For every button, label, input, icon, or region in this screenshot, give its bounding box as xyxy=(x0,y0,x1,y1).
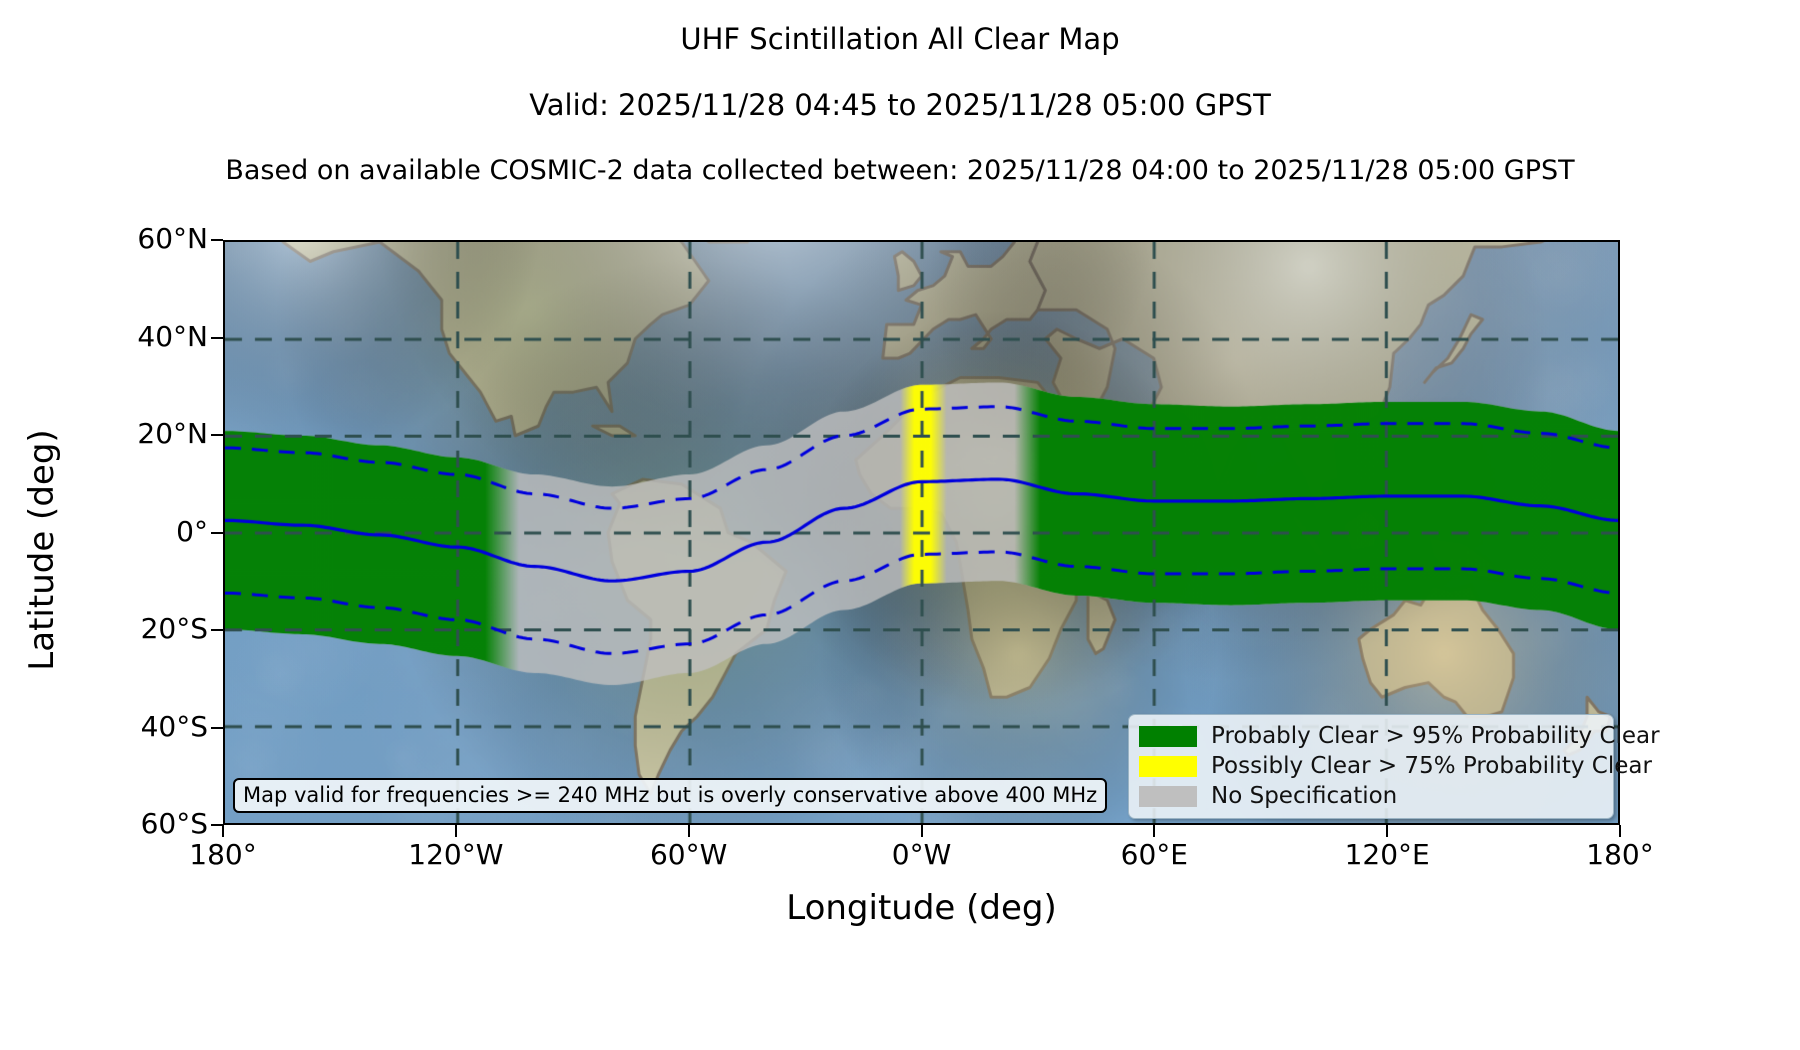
x-tick-mark xyxy=(688,825,690,837)
legend-color-swatch xyxy=(1139,726,1197,747)
legend-color-swatch xyxy=(1139,756,1197,777)
frequency-validity-note: Map valid for frequencies >= 240 MHz but… xyxy=(233,778,1107,813)
x-tick-mark xyxy=(921,825,923,837)
legend-item: Possibly Clear > 75% Probability Clear xyxy=(1139,751,1603,781)
map-legend: Probably Clear > 95% Probability ClearPo… xyxy=(1128,714,1614,819)
y-tick-label: 0° xyxy=(80,515,208,548)
x-tick-label: 120°E xyxy=(1307,838,1467,871)
x-tick-label: 60°E xyxy=(1074,838,1234,871)
y-tick-mark xyxy=(211,629,223,631)
legend-item-label: No Specification xyxy=(1211,783,1397,809)
frequency-validity-note-text: Map valid for frequencies >= 240 MHz but… xyxy=(243,783,1097,807)
x-tick-mark xyxy=(222,825,224,837)
legend-item-label: Probably Clear > 95% Probability Clear xyxy=(1211,723,1660,749)
x-axis-label: Longitude (deg) xyxy=(223,888,1620,928)
y-tick-label: 40°N xyxy=(80,320,208,353)
data-source-subtitle: Based on available COSMIC-2 data collect… xyxy=(0,155,1800,186)
page-title: UHF Scintillation All Clear Map xyxy=(0,22,1800,56)
y-tick-mark xyxy=(211,532,223,534)
legend-color-swatch xyxy=(1139,786,1197,807)
legend-item: No Specification xyxy=(1139,781,1603,811)
y-tick-mark xyxy=(211,434,223,436)
y-tick-mark xyxy=(211,239,223,241)
y-tick-label: 40°S xyxy=(80,710,208,743)
x-tick-label: 0°W xyxy=(842,838,1002,871)
y-tick-mark xyxy=(211,727,223,729)
x-tick-mark xyxy=(1386,825,1388,837)
x-tick-label: 180° xyxy=(1540,838,1700,871)
x-tick-label: 180° xyxy=(143,838,303,871)
y-tick-label: 20°S xyxy=(80,612,208,645)
y-axis-label: Latitude (deg) xyxy=(22,390,62,710)
x-tick-mark xyxy=(455,825,457,837)
y-tick-label: 20°N xyxy=(80,417,208,450)
x-tick-label: 120°W xyxy=(376,838,536,871)
y-tick-label: 60°S xyxy=(80,807,208,840)
x-tick-mark xyxy=(1153,825,1155,837)
x-tick-mark xyxy=(1619,825,1621,837)
legend-item: Probably Clear > 95% Probability Clear xyxy=(1139,721,1603,751)
y-tick-label: 60°N xyxy=(80,222,208,255)
x-tick-label: 60°W xyxy=(609,838,769,871)
valid-period-subtitle: Valid: 2025/11/28 04:45 to 2025/11/28 05… xyxy=(0,88,1800,122)
y-tick-mark xyxy=(211,337,223,339)
legend-item-label: Possibly Clear > 75% Probability Clear xyxy=(1211,753,1652,779)
